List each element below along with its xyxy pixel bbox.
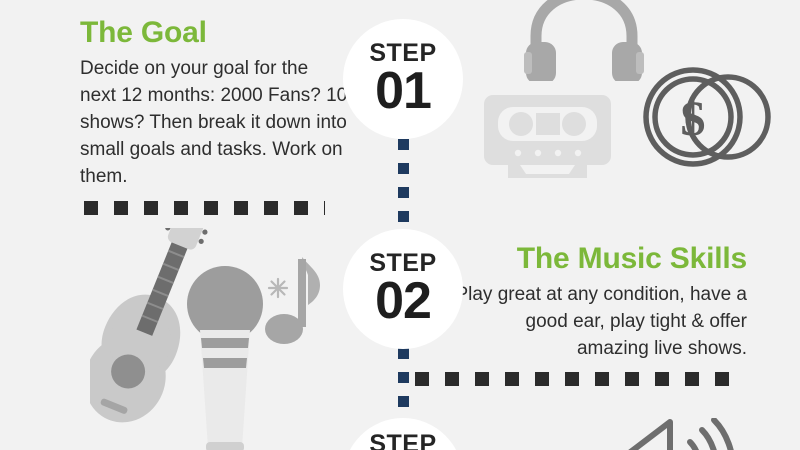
step-02-circle[interactable]: STEP 02 [343,229,463,349]
step-02-number: 02 [375,277,431,326]
goal-body: Decide on your goal for the next 12 mont… [80,56,348,191]
step-01-number: 01 [375,67,431,116]
step-01-circle[interactable]: STEP 01 [343,19,463,139]
sparkle-icon [266,276,290,305]
connector-horizontal-goal [84,201,325,215]
svg-text:$: $ [681,90,706,146]
goal-title: The Goal [80,16,348,49]
music-note-icon [258,253,324,353]
megaphone-icon [594,418,754,450]
connector-horizontal-music-skills [415,372,745,386]
connector-vertical-step1-step2 [398,139,409,231]
music-skills-body: Play great at any condition, have a good… [455,282,747,363]
goal-block: The Goal Decide on your goal for the nex… [80,16,348,191]
music-skills-title: The Music Skills [455,242,747,275]
headphones-icon [524,0,644,86]
step-03-word: STEP [369,432,436,450]
coins-icon: $ [636,60,786,180]
cassette-tape-icon [480,85,615,190]
step-03-circle[interactable]: STEP [343,418,463,450]
music-skills-block: The Music Skills Play great at any condi… [455,242,747,363]
microphone-icon [180,262,270,450]
infographic-canvas: $ [0,0,800,450]
connector-vertical-step2-step3 [398,348,409,420]
acoustic-guitar-icon [90,228,225,450]
